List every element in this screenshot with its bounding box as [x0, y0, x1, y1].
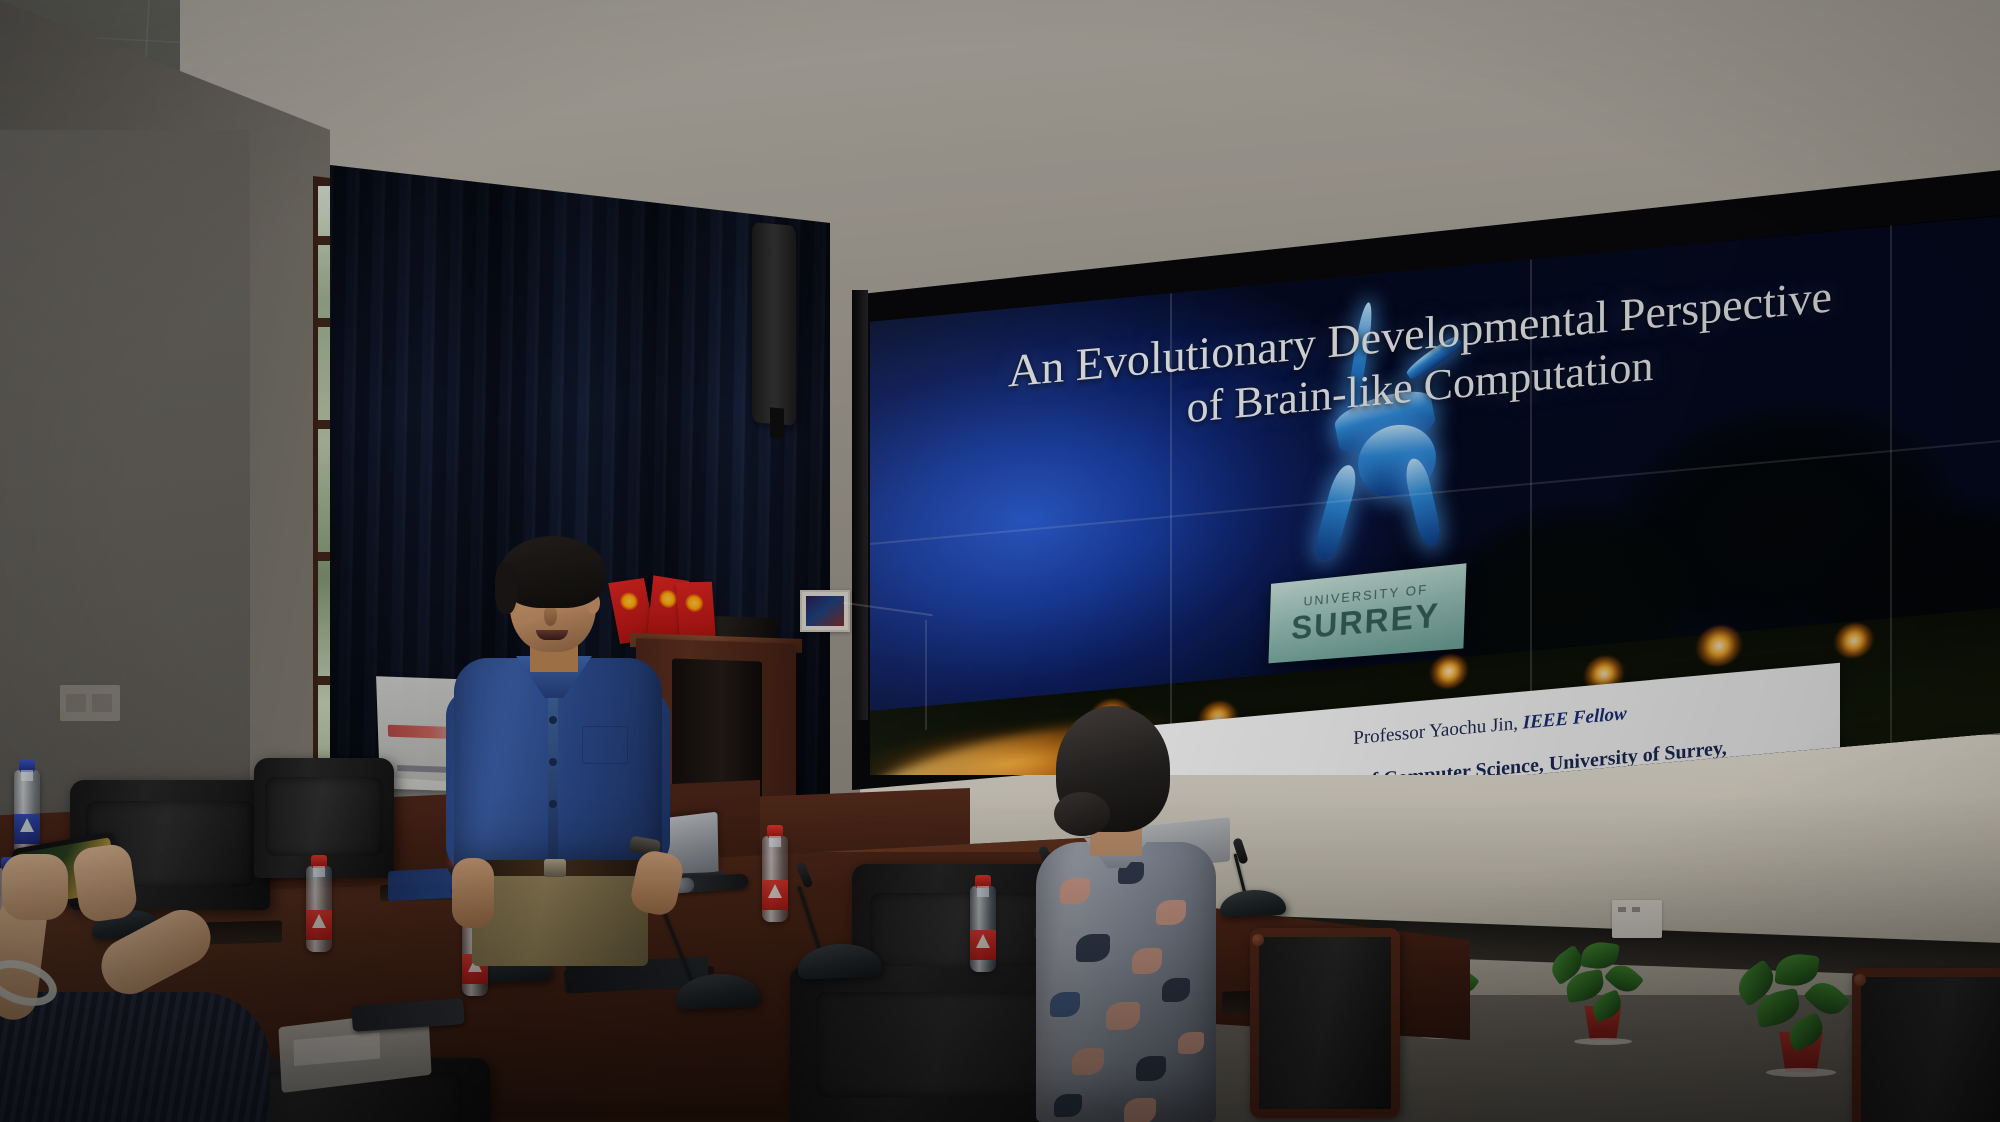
- potted-plant: [1736, 954, 1866, 1072]
- water-bottle[interactable]: [970, 886, 996, 972]
- presenter-belt-buckle: [544, 859, 566, 877]
- presenter-nose: [544, 606, 557, 626]
- presenter-trousers: [472, 866, 648, 966]
- lecture-hall-photo: UNIVERSITY OF SURREY An Evolutionary Dev…: [0, 0, 2000, 1122]
- presenter-shirt-pocket: [582, 726, 628, 764]
- woman-hair-bun: [1054, 792, 1110, 836]
- speaker-bracket: [770, 407, 784, 438]
- seated-audience-woman: [1028, 706, 1218, 1122]
- potted-plant: [1548, 940, 1658, 1040]
- presenter-left-hand: [452, 858, 494, 928]
- video-wall-left-bezel: [852, 290, 868, 720]
- column-speaker-icon: [752, 222, 796, 426]
- power-outlet[interactable]: [1612, 900, 1662, 938]
- photographer-torso: [0, 992, 270, 1122]
- presenter-speaker: [448, 540, 668, 960]
- presenter-hair: [500, 536, 606, 608]
- presenter-mouth: [536, 630, 568, 640]
- av-control-panel[interactable]: [800, 590, 850, 632]
- audience-member-taking-photo: [0, 840, 310, 1122]
- poster-subtext: [397, 765, 449, 773]
- water-bottle[interactable]: [762, 836, 788, 922]
- photographer-right-hand: [71, 842, 139, 923]
- light-switch-plate[interactable]: [60, 685, 120, 721]
- woman-floral-pattern: [1036, 842, 1216, 1122]
- photographer-left-hand: [2, 854, 68, 920]
- plant-saucer: [1766, 1068, 1836, 1077]
- cable-run: [925, 620, 927, 730]
- wooden-chair[interactable]: [1250, 928, 1400, 1118]
- wooden-chair[interactable]: [1852, 968, 2000, 1122]
- plant-saucer: [1574, 1038, 1632, 1045]
- left-wall-highlight: [0, 130, 250, 830]
